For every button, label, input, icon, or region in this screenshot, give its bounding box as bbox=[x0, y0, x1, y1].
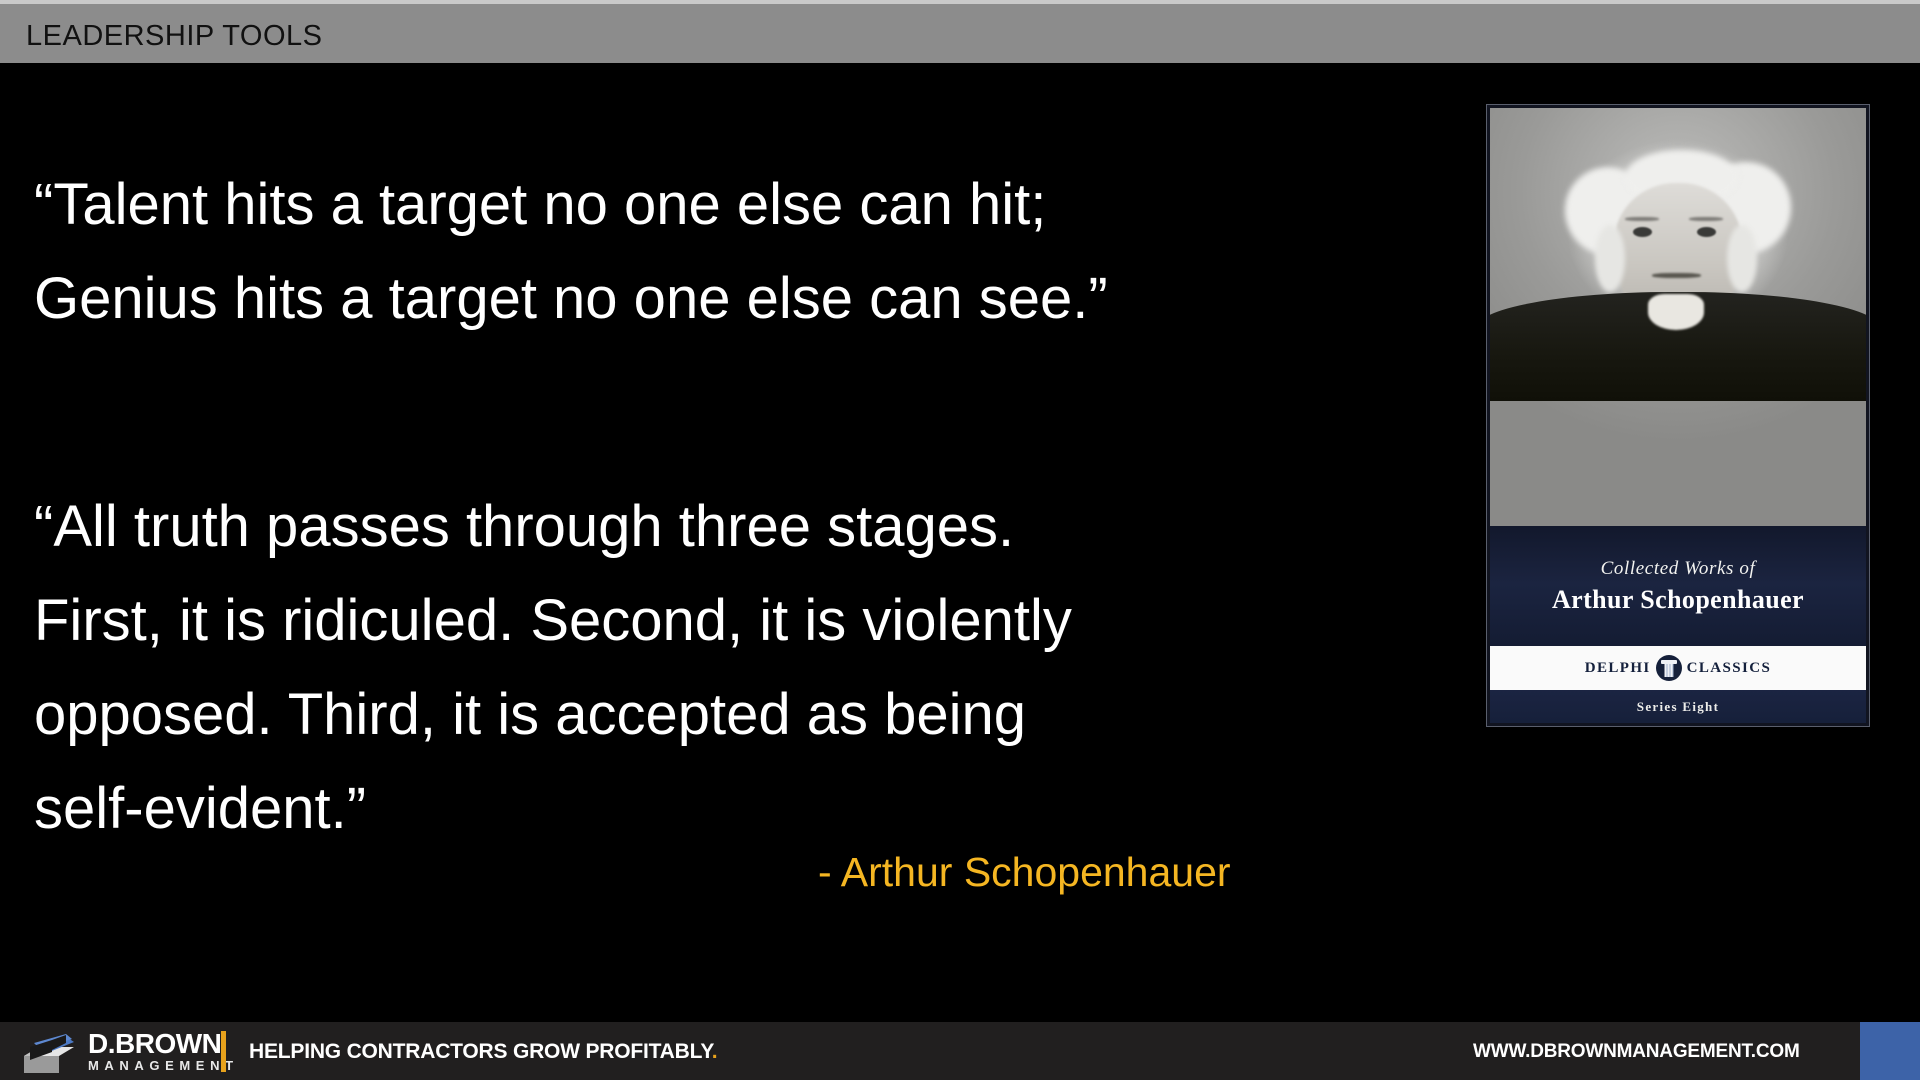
footer-website-url[interactable]: WWW.DBROWNMANAGEMENT.COM bbox=[1473, 1041, 1800, 1063]
footer-accent-square bbox=[1860, 1022, 1920, 1080]
portrait-photo bbox=[1490, 108, 1866, 526]
book-series-label: Series Eight bbox=[1637, 699, 1719, 715]
slide-canvas: LEADERSHIP TOOLS “Talent hits a target n… bbox=[0, 0, 1920, 1080]
publisher-name-first: DELPHI bbox=[1585, 660, 1651, 677]
quote-line: “Talent hits a target no one else can hi… bbox=[34, 158, 1108, 252]
dbrown-cube-logo-icon bbox=[22, 1030, 76, 1074]
quote-area: “Talent hits a target no one else can hi… bbox=[0, 63, 1470, 963]
quote-line: “All truth passes through three stages. bbox=[34, 480, 1072, 574]
footer-divider bbox=[221, 1031, 226, 1072]
quote-line: First, it is ridiculed. Second, it is vi… bbox=[34, 574, 1072, 668]
book-collected-label: Collected Works of bbox=[1601, 558, 1756, 580]
brand-subtitle: MANAGEMENT bbox=[88, 1058, 239, 1073]
footer-tagline-text: HELPING CONTRACTORS GROW PROFITABLY bbox=[249, 1040, 712, 1063]
greek-column-icon bbox=[1656, 655, 1682, 681]
brand-name: D.BROWN bbox=[88, 1030, 239, 1057]
eye-left bbox=[1633, 227, 1652, 237]
collar-shape bbox=[1648, 294, 1704, 330]
quote-block-1: “Talent hits a target no one else can hi… bbox=[34, 158, 1108, 346]
footer-brand: D.BROWN MANAGEMENT bbox=[88, 1030, 239, 1073]
book-title-band: Collected Works of Arthur Schopenhauer bbox=[1490, 526, 1866, 646]
footer-tagline: HELPING CONTRACTORS GROW PROFITABLY. bbox=[249, 1040, 717, 1064]
mouth bbox=[1652, 273, 1701, 278]
quote-line: Genius hits a target no one else can see… bbox=[34, 252, 1108, 346]
book-cover-image: Collected Works of Arthur Schopenhauer D… bbox=[1487, 105, 1869, 726]
eyebrow-right bbox=[1689, 217, 1723, 221]
footer-tagline-dot: . bbox=[712, 1040, 718, 1063]
page-title: LEADERSHIP TOOLS bbox=[26, 20, 323, 53]
quote-block-2: “All truth passes through three stages. … bbox=[34, 480, 1072, 856]
quote-line: self-evident.” bbox=[34, 762, 1072, 856]
publisher-band: DELPHI CLASSICS bbox=[1490, 646, 1866, 690]
publisher-name-second: CLASSICS bbox=[1687, 660, 1772, 677]
series-band: Series Eight bbox=[1490, 690, 1866, 723]
eye-right bbox=[1697, 227, 1716, 237]
book-author-name: Arthur Schopenhauer bbox=[1552, 585, 1804, 615]
quote-line: opposed. Third, it is accepted as being bbox=[34, 668, 1072, 762]
eyebrow-left bbox=[1625, 217, 1659, 221]
sideburn-right bbox=[1727, 225, 1757, 292]
quote-attribution: - Arthur Schopenhauer bbox=[818, 849, 1231, 896]
